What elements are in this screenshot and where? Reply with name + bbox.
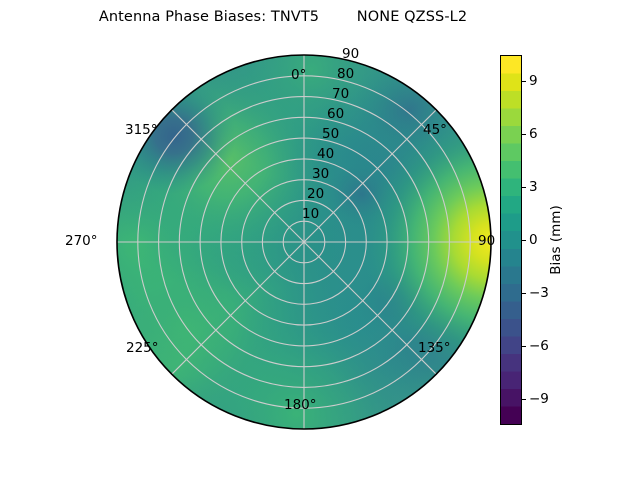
azimuth-tick-label: 0° bbox=[291, 68, 306, 83]
azimuth-tick-label: 270° bbox=[65, 234, 98, 249]
colorbar-tick-label: −9 bbox=[529, 392, 549, 406]
figure-canvas: Antenna Phase Biases: TNVT5 NONE QZSS-L2 bbox=[0, 0, 640, 480]
radial-tick-label: 70 bbox=[332, 87, 349, 102]
colorbar-tick-mark bbox=[522, 399, 526, 400]
colorbar-tick-mark bbox=[522, 134, 526, 135]
polar-grid-spokes bbox=[117, 55, 491, 429]
azimuth-tick-label: 180° bbox=[284, 398, 317, 413]
colorbar-tick-mark bbox=[522, 293, 526, 294]
azimuth-tick-label: 90 bbox=[478, 234, 495, 249]
polar-axes: 0°45°90135°180°225°270°315° 102030405060… bbox=[110, 48, 498, 436]
radial-tick-label: 90 bbox=[342, 47, 359, 62]
radial-tick-label: 30 bbox=[312, 167, 329, 182]
colorbar-tick-label: 6 bbox=[529, 127, 538, 141]
colorbar-tick-mark bbox=[522, 187, 526, 188]
radial-tick-label: 10 bbox=[302, 207, 319, 222]
colorbar-tick-label: −3 bbox=[529, 286, 549, 300]
colorbar-tick-label: 0 bbox=[529, 233, 538, 247]
chart-title: Antenna Phase Biases: TNVT5 NONE QZSS-L2 bbox=[0, 8, 566, 26]
colorbar[interactable]: 9630−3−6−9 bbox=[500, 55, 522, 425]
colorbar-gradient bbox=[500, 55, 522, 425]
colorbar-tick-mark bbox=[522, 346, 526, 347]
colorbar-tick-label: 3 bbox=[529, 180, 538, 194]
azimuth-tick-label: 225° bbox=[126, 341, 159, 356]
colorbar-tick-mark bbox=[522, 81, 526, 82]
azimuth-tick-label: 315° bbox=[125, 123, 158, 138]
colorbar-tick-label: −6 bbox=[529, 339, 549, 353]
azimuth-tick-label: 45° bbox=[423, 123, 447, 138]
colorbar-tick-label: 9 bbox=[529, 74, 538, 88]
colorbar-axis-label: Bias (mm) bbox=[548, 205, 564, 274]
polar-plot-surface bbox=[110, 48, 498, 436]
radial-tick-label: 80 bbox=[337, 67, 354, 82]
radial-tick-label: 20 bbox=[307, 187, 324, 202]
radial-tick-label: 40 bbox=[317, 147, 334, 162]
azimuth-tick-label: 135° bbox=[418, 341, 451, 356]
colorbar-tick-mark bbox=[522, 240, 526, 241]
radial-tick-label: 60 bbox=[327, 107, 344, 122]
radial-tick-label: 50 bbox=[322, 127, 339, 142]
